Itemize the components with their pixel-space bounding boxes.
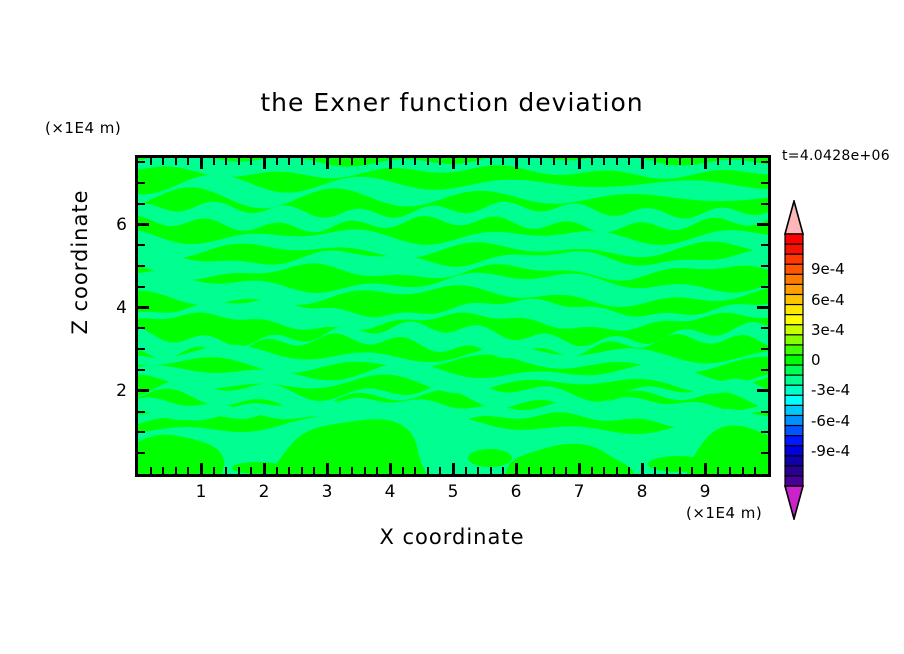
colorbar-band	[785, 365, 803, 375]
x-tick-minor-top	[288, 158, 290, 165]
x-tick-minor-top	[339, 158, 341, 165]
y-tick-label: 2	[101, 381, 127, 401]
x-tick-minor	[351, 467, 353, 474]
colorbar-band	[785, 264, 803, 274]
x-tick-minor-top	[540, 158, 542, 165]
x-tick-minor	[414, 467, 416, 474]
x-tick-minor-top	[225, 158, 227, 165]
x-tick-minor	[162, 467, 164, 474]
colorbar-under-arrow	[785, 486, 803, 519]
x-tick-minor	[742, 467, 744, 474]
x-tick-label: 9	[700, 482, 711, 502]
x-tick-minor	[628, 467, 630, 474]
colorbar-band	[785, 254, 803, 264]
y-tick-minor-right	[761, 161, 768, 163]
x-tick-major-top	[515, 158, 518, 169]
colorbar-tick-label: -9e-4	[811, 442, 850, 460]
x-tick-minor-top	[439, 158, 441, 165]
colorbar-band	[785, 456, 803, 466]
colorbar-tick-label: -6e-4	[811, 412, 850, 430]
colorbar-band	[785, 345, 803, 355]
x-tick-major-top	[389, 158, 392, 169]
y-tick-minor-right	[761, 369, 768, 371]
colorbar-band	[785, 315, 803, 325]
x-tick-minor	[313, 467, 315, 474]
x-tick-minor-top	[717, 158, 719, 165]
x-tick-minor	[427, 467, 429, 474]
colorbar-band	[785, 415, 803, 425]
x-tick-minor	[288, 467, 290, 474]
contour-field	[138, 158, 768, 474]
x-tick-major	[326, 463, 329, 474]
x-tick-minor-top	[187, 158, 189, 165]
colorbar-band	[785, 335, 803, 345]
x-tick-minor	[754, 467, 756, 474]
x-tick-major	[704, 463, 707, 474]
x-tick-major	[263, 463, 266, 474]
colorbar-band	[785, 466, 803, 476]
x-tick-major-top	[326, 158, 329, 169]
y-tick-minor-right	[761, 452, 768, 454]
y-tick-minor-right	[761, 182, 768, 184]
colorbar-band	[785, 355, 803, 365]
x-tick-major	[200, 463, 203, 474]
y-tick-major	[138, 389, 149, 392]
x-tick-minor	[301, 467, 303, 474]
x-tick-minor-top	[427, 158, 429, 165]
colorbar-band	[785, 395, 803, 405]
y-axis-title: Z coordinate	[68, 162, 92, 362]
colorbar	[783, 200, 805, 520]
x-tick-minor-top	[528, 158, 530, 165]
x-tick-minor-top	[691, 158, 693, 165]
y-tick-label: 6	[101, 215, 127, 235]
x-tick-minor-top	[162, 158, 164, 165]
x-tick-major-top	[704, 158, 707, 169]
colorbar-band	[785, 375, 803, 385]
x-tick-minor-top	[313, 158, 315, 165]
x-tick-minor-top	[565, 158, 567, 165]
x-tick-minor-top	[616, 158, 618, 165]
y-tick-minor	[138, 244, 145, 246]
x-tick-minor	[502, 467, 504, 474]
x-tick-major-top	[200, 158, 203, 169]
x-tick-minor-top	[628, 158, 630, 165]
x-tick-minor-top	[414, 158, 416, 165]
x-axis-units-label: (×1E4 m)	[686, 504, 762, 522]
y-tick-minor	[138, 327, 145, 329]
colorbar-band	[785, 325, 803, 335]
x-tick-minor-top	[276, 158, 278, 165]
colorbar-band	[785, 294, 803, 304]
x-tick-minor-top	[238, 158, 240, 165]
x-tick-minor-top	[250, 158, 252, 165]
colorbar-band	[785, 436, 803, 446]
x-tick-minor	[490, 467, 492, 474]
x-tick-label: 5	[448, 482, 459, 502]
y-tick-minor	[138, 182, 145, 184]
x-tick-minor	[187, 467, 189, 474]
x-tick-minor	[565, 467, 567, 474]
colorbar-tick-label: 0	[811, 351, 821, 369]
colorbar-band	[785, 476, 803, 486]
x-tick-minor	[654, 467, 656, 474]
y-tick-minor	[138, 348, 145, 350]
colorbar-tick-label: 3e-4	[811, 321, 845, 339]
y-tick-minor-right	[761, 244, 768, 246]
plot-area	[135, 155, 771, 477]
page-title: the Exner function deviation	[0, 88, 904, 117]
x-tick-minor	[553, 467, 555, 474]
colorbar-tick-label: 9e-4	[811, 260, 845, 278]
y-tick-major-right	[757, 389, 768, 392]
x-tick-minor	[679, 467, 681, 474]
y-tick-major	[138, 306, 149, 309]
x-tick-minor	[250, 467, 252, 474]
x-tick-label: 8	[637, 482, 648, 502]
y-tick-minor	[138, 265, 145, 267]
x-tick-minor-top	[591, 158, 593, 165]
y-tick-minor	[138, 452, 145, 454]
y-tick-minor-right	[761, 203, 768, 205]
colorbar-band	[785, 385, 803, 395]
y-tick-minor	[138, 203, 145, 205]
x-tick-minor-top	[465, 158, 467, 165]
colorbar-band	[785, 446, 803, 456]
colorbar-over-arrow	[785, 201, 803, 234]
x-tick-minor	[364, 467, 366, 474]
x-tick-minor	[225, 467, 227, 474]
x-tick-major-top	[578, 158, 581, 169]
x-tick-minor	[477, 467, 479, 474]
x-tick-minor-top	[364, 158, 366, 165]
x-tick-minor	[729, 467, 731, 474]
x-tick-label: 4	[385, 482, 396, 502]
contour-island	[468, 449, 512, 467]
x-tick-minor	[175, 467, 177, 474]
x-tick-minor	[439, 467, 441, 474]
x-tick-major-top	[641, 158, 644, 169]
x-tick-minor-top	[742, 158, 744, 165]
x-tick-minor	[339, 467, 341, 474]
x-tick-minor-top	[666, 158, 668, 165]
x-tick-minor	[666, 467, 668, 474]
colorbar-band	[785, 426, 803, 436]
x-tick-label: 3	[322, 482, 333, 502]
x-tick-label: 7	[574, 482, 585, 502]
colorbar-band	[785, 284, 803, 294]
y-tick-major	[138, 223, 149, 226]
colorbar-band	[785, 234, 803, 244]
x-tick-minor	[528, 467, 530, 474]
y-tick-major-right	[757, 306, 768, 309]
chart-page: the Exner function deviation (×1E4 m) (×…	[0, 0, 904, 654]
x-tick-major	[578, 463, 581, 474]
x-tick-minor-top	[376, 158, 378, 165]
y-tick-minor-right	[761, 431, 768, 433]
x-tick-major	[389, 463, 392, 474]
x-tick-label: 1	[196, 482, 207, 502]
x-tick-minor	[276, 467, 278, 474]
x-tick-label: 6	[511, 482, 522, 502]
y-tick-minor-right	[761, 411, 768, 413]
colorbar-tick-label: 6e-4	[811, 291, 845, 309]
x-tick-minor-top	[679, 158, 681, 165]
colorbar-band	[785, 405, 803, 415]
x-tick-minor	[603, 467, 605, 474]
y-tick-minor	[138, 411, 145, 413]
y-tick-minor	[138, 161, 145, 163]
x-tick-major	[641, 463, 644, 474]
x-tick-minor-top	[150, 158, 152, 165]
x-axis-title: X coordinate	[0, 525, 904, 549]
x-tick-minor	[402, 467, 404, 474]
y-tick-label: 4	[101, 298, 127, 318]
x-tick-minor	[540, 467, 542, 474]
x-tick-minor	[150, 467, 152, 474]
y-tick-minor	[138, 369, 145, 371]
x-tick-major	[515, 463, 518, 474]
x-tick-minor	[376, 467, 378, 474]
y-axis-units-label: (×1E4 m)	[45, 119, 121, 137]
colorbar-band	[785, 244, 803, 254]
y-tick-minor	[138, 431, 145, 433]
x-tick-major-top	[263, 158, 266, 169]
x-tick-minor-top	[502, 158, 504, 165]
x-tick-minor	[238, 467, 240, 474]
y-tick-minor-right	[761, 286, 768, 288]
y-tick-minor	[138, 286, 145, 288]
y-tick-minor-right	[761, 348, 768, 350]
x-tick-minor-top	[654, 158, 656, 165]
colorbar-tick-label: -3e-4	[811, 381, 850, 399]
x-tick-minor	[691, 467, 693, 474]
y-tick-major-right	[757, 223, 768, 226]
x-tick-major-top	[452, 158, 455, 169]
x-tick-minor-top	[490, 158, 492, 165]
colorbar-band	[785, 305, 803, 315]
y-tick-minor-right	[761, 265, 768, 267]
x-tick-minor-top	[301, 158, 303, 165]
timestamp-label: t=4.0428e+06	[782, 148, 890, 164]
y-tick-minor-right	[761, 327, 768, 329]
x-tick-major	[452, 463, 455, 474]
x-tick-minor-top	[402, 158, 404, 165]
x-tick-minor-top	[477, 158, 479, 165]
x-tick-minor	[717, 467, 719, 474]
x-tick-minor	[591, 467, 593, 474]
x-tick-minor-top	[729, 158, 731, 165]
x-tick-minor-top	[603, 158, 605, 165]
x-tick-minor-top	[553, 158, 555, 165]
x-tick-minor	[465, 467, 467, 474]
x-tick-minor	[213, 467, 215, 474]
colorbar-band	[785, 274, 803, 284]
x-tick-minor-top	[213, 158, 215, 165]
x-tick-label: 2	[259, 482, 270, 502]
x-tick-minor-top	[351, 158, 353, 165]
colorbar-swatches	[783, 200, 805, 520]
x-tick-minor-top	[754, 158, 756, 165]
x-tick-minor-top	[175, 158, 177, 165]
x-tick-minor	[616, 467, 618, 474]
